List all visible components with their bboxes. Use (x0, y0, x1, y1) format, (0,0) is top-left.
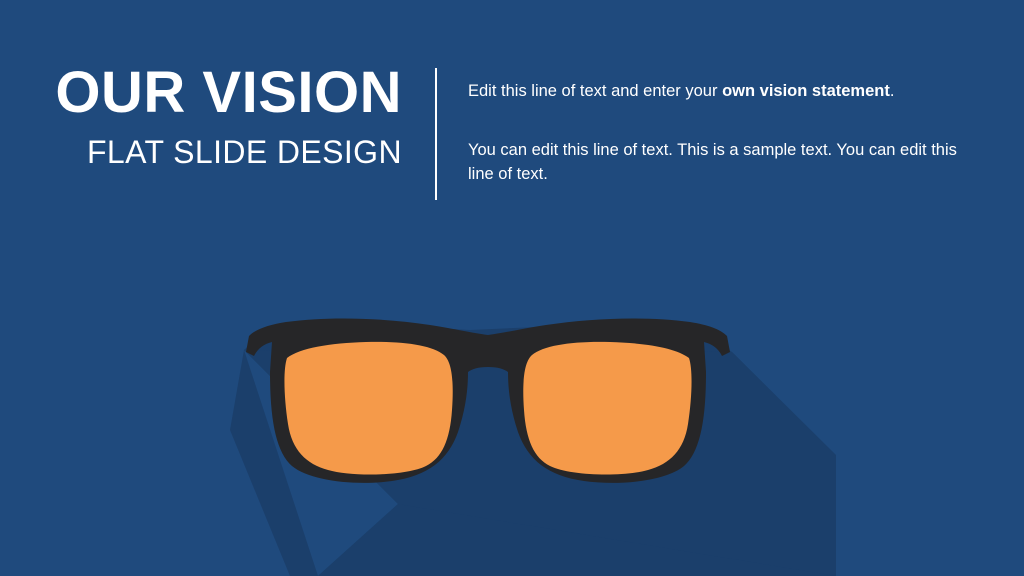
header-block: OUR VISION FLAT SLIDE DESIGN Edit this l… (0, 0, 1024, 230)
body-paragraph-1-lead: Edit this line of text and enter your (468, 82, 722, 100)
page-title: OUR VISION (40, 64, 402, 122)
title-group: OUR VISION FLAT SLIDE DESIGN (40, 64, 402, 168)
body-paragraph-1-trail: . (890, 82, 895, 100)
body-paragraph-2: You can edit this line of text. This is … (468, 139, 970, 186)
slide-canvas: OUR VISION FLAT SLIDE DESIGN Edit this l… (0, 0, 1024, 576)
header-divider (435, 68, 437, 200)
body-text-group: Edit this line of text and enter your ow… (468, 80, 970, 186)
page-subtitle: FLAT SLIDE DESIGN (40, 136, 402, 168)
body-paragraph-1-emphasis: own vision statement (722, 82, 890, 100)
body-paragraph-1: Edit this line of text and enter your ow… (468, 80, 970, 103)
